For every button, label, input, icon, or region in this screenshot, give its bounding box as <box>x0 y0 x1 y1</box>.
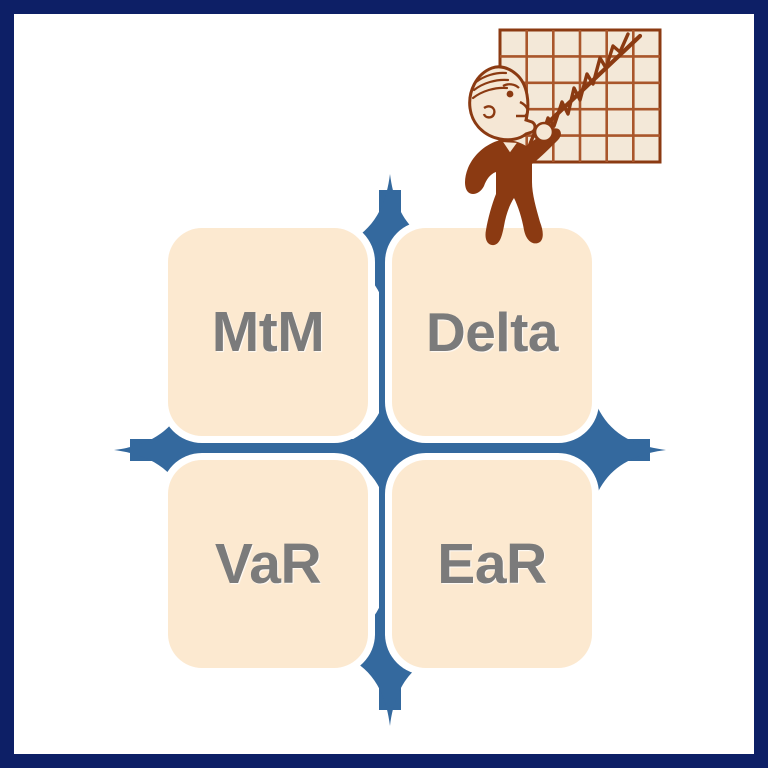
tile-var[interactable]: VaR <box>168 460 368 668</box>
tile-mtm-label: MtM <box>212 304 324 361</box>
tile-delta[interactable]: Delta <box>392 228 592 436</box>
tile-ear[interactable]: EaR <box>392 460 592 668</box>
presenter-with-growth-chart-clipart <box>440 22 690 252</box>
tile-var-label: VaR <box>215 536 321 593</box>
eye-icon <box>507 91 514 98</box>
tile-ear-label: EaR <box>437 536 546 593</box>
quadrant-tiles: MtM Delta VaR EaR <box>168 228 592 666</box>
hand-icon <box>535 123 553 141</box>
tile-mtm[interactable]: MtM <box>168 228 368 436</box>
diagram-canvas: MtM Delta VaR EaR <box>0 0 768 768</box>
tile-delta-label: Delta <box>426 305 558 360</box>
